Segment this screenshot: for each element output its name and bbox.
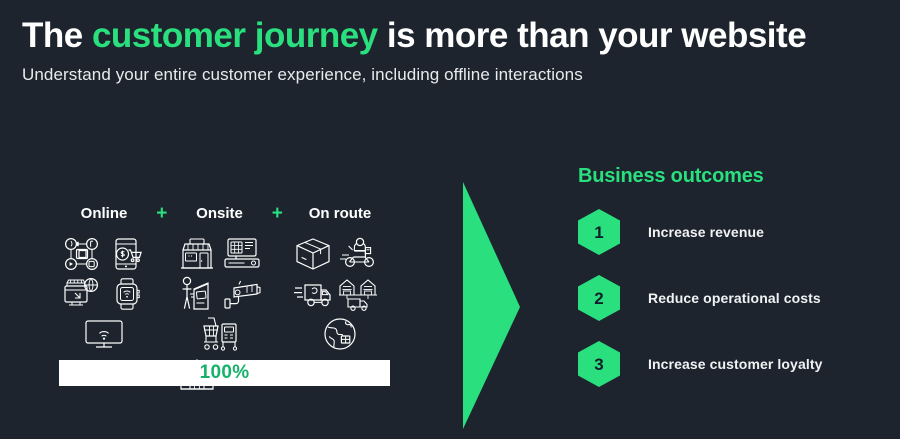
- storefront-icon: [175, 234, 220, 274]
- outcome-label-2: Reduce operational costs: [648, 290, 821, 306]
- plus-separator-1: +: [152, 204, 172, 223]
- outcome-number-1: 1: [594, 224, 603, 241]
- distribution-center-icon: [335, 274, 380, 314]
- outcome-item-2[interactable]: 2 Reduce operational costs: [578, 275, 878, 321]
- headline-accent: customer journey: [92, 16, 378, 55]
- self-service-kiosk-icon: [175, 274, 220, 314]
- page-subtitle: Understand your entire customer experien…: [22, 65, 892, 85]
- journey-icon-grid: [59, 234, 390, 354]
- hexagon-badge-1: 1: [578, 209, 620, 255]
- security-camera-icon: [220, 274, 265, 314]
- package-box-icon: [290, 234, 335, 274]
- journey-coverage-bar: 100%: [59, 360, 390, 386]
- headline-tail: is more than your website: [378, 16, 807, 55]
- page-header: The customer journey is more than your w…: [22, 18, 892, 85]
- smart-tv-icon: [59, 314, 149, 354]
- coverage-percent-label: 100%: [200, 362, 250, 384]
- smartwatch-wifi-icon: [104, 274, 149, 314]
- journey-column-headers: Online + Onsite + On route: [59, 200, 390, 226]
- plus-separator-2: +: [267, 204, 287, 223]
- outcome-number-3: 3: [594, 356, 603, 373]
- column-label-online: Online: [59, 205, 149, 222]
- page-title: The customer journey is more than your w…: [22, 18, 892, 55]
- column-label-on-route: On route: [290, 205, 390, 222]
- outcome-label-3: Increase customer loyalty: [648, 356, 822, 372]
- outcomes-list: 1 Increase revenue 2 Reduce operational …: [578, 209, 878, 387]
- column-label-onsite: Onsite: [175, 205, 265, 222]
- outcome-number-2: 2: [594, 290, 603, 307]
- shopping-cart-checkout-icon: [175, 314, 265, 354]
- customer-journey-panel: Online + Onsite + On route: [59, 200, 390, 386]
- global-shipping-icon: [290, 314, 390, 354]
- headline-lead: The: [22, 16, 92, 55]
- mobile-shopping-icon: [104, 234, 149, 274]
- social-network-icon: [59, 234, 104, 274]
- hexagon-badge-2: 2: [578, 275, 620, 321]
- outcome-label-1: Increase revenue: [648, 224, 764, 240]
- outcomes-title: Business outcomes: [578, 165, 878, 188]
- scooter-delivery-icon: [335, 234, 380, 274]
- icon-column-onsite: [175, 234, 265, 354]
- hexagon-badge-3: 3: [578, 341, 620, 387]
- icon-column-on-route: [290, 234, 390, 354]
- outcome-item-1[interactable]: 1 Increase revenue: [578, 209, 878, 255]
- green-right-arrow: [462, 182, 524, 429]
- ecommerce-website-icon: [59, 274, 104, 314]
- delivery-truck-icon: [290, 274, 335, 314]
- icon-column-online: [59, 234, 149, 354]
- pos-terminal-icon: [220, 234, 265, 274]
- business-outcomes-panel: Business outcomes 1 Increase revenue 2 R…: [578, 165, 878, 407]
- outcome-item-3[interactable]: 3 Increase customer loyalty: [578, 341, 878, 387]
